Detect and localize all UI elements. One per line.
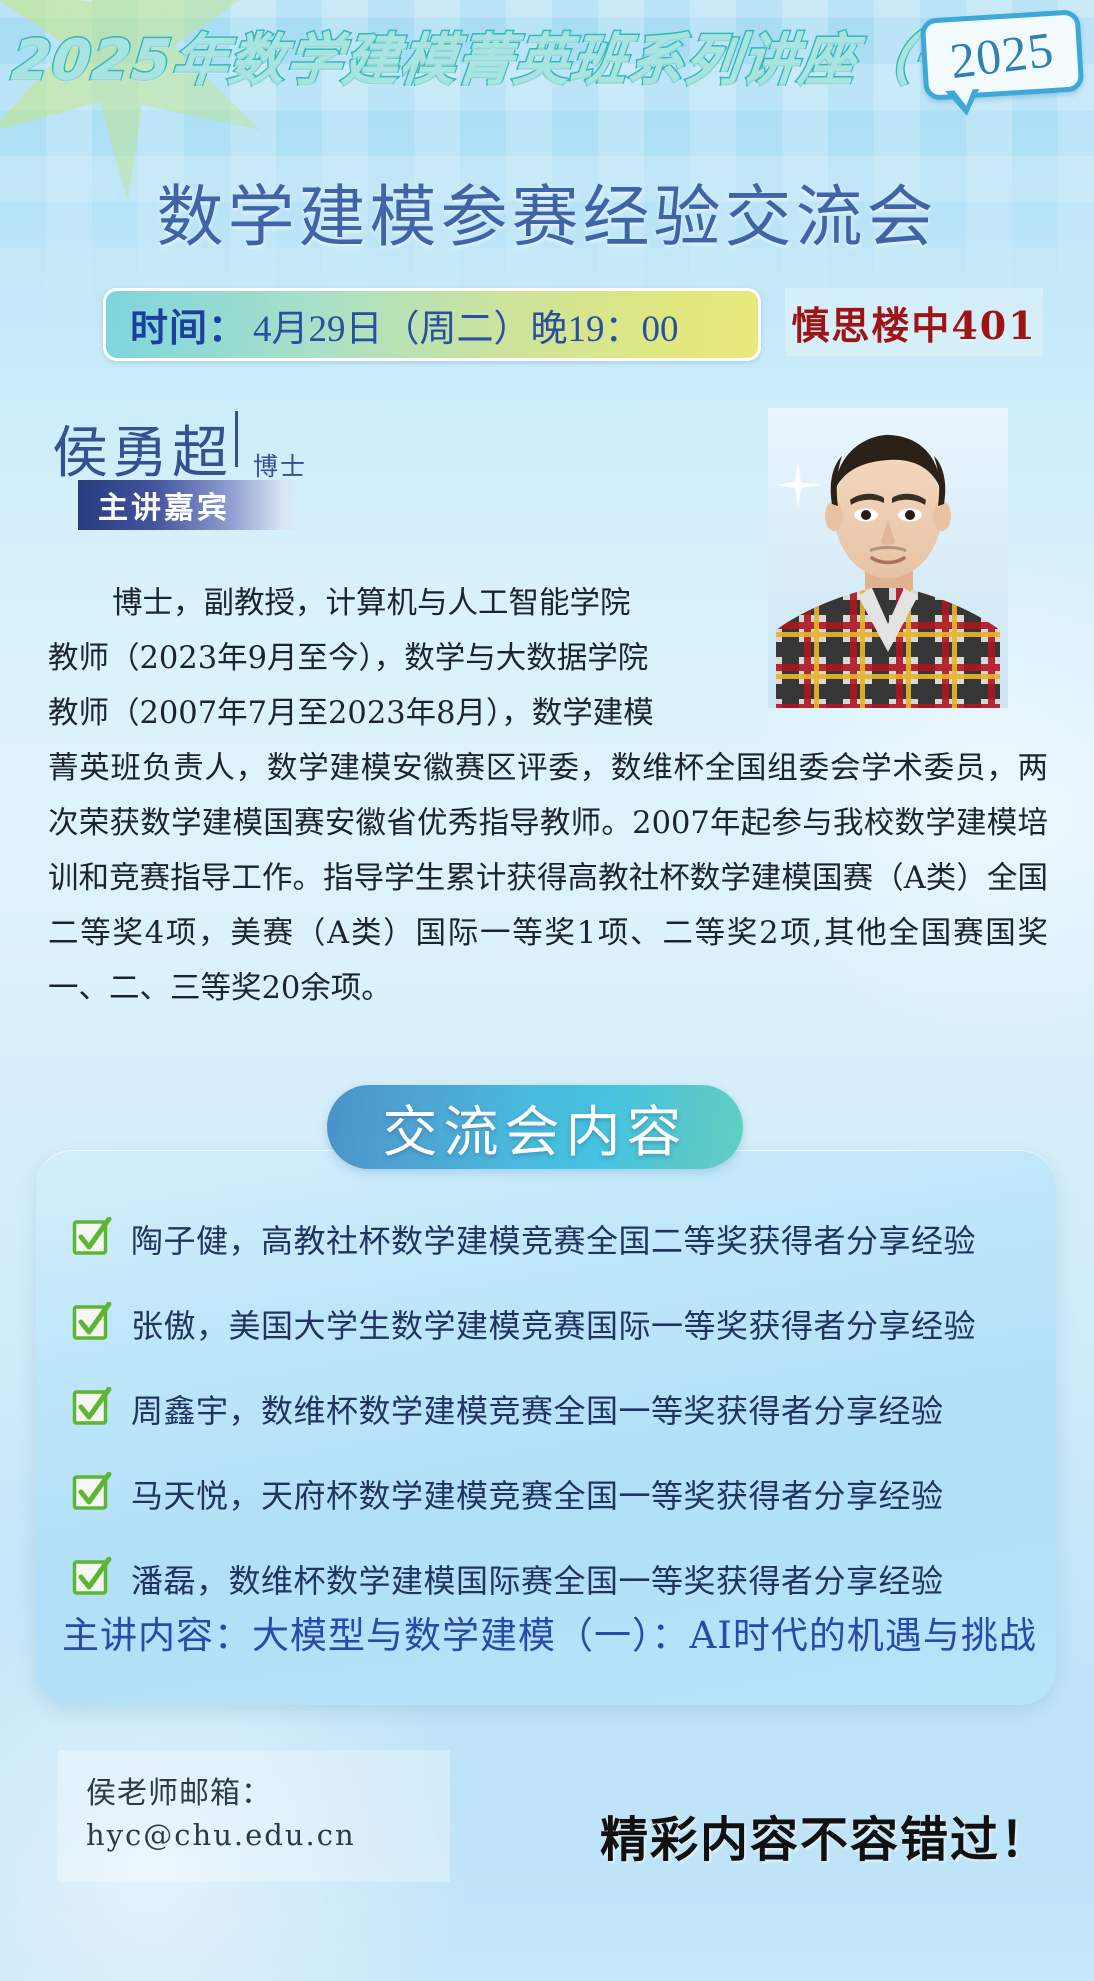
list-item-text: 潘磊，数维杯数学建模国际赛全国一等奖获得者分享经验 (131, 1556, 944, 1602)
speaker-name-divider (235, 411, 238, 467)
poster-root: 2025年数学建模菁英班系列讲座（一） 2025 数学建模参赛经验交流会 时间：… (0, 0, 1094, 1981)
speaker-degree: 博士 (253, 447, 307, 483)
event-time-value: 4月29日（周二）晚19：00 (253, 298, 679, 352)
series-title: 2025年数学建模菁英班系列讲座（一） (8, 26, 775, 96)
section-header-content: 交流会内容 (327, 1085, 743, 1169)
contact-email-address: hyc@chu.edu.cn (86, 1814, 450, 1856)
bio-line-1: 博士，副教授，计算机与人工智能学院 (112, 586, 631, 621)
speaker-biography: 博士，副教授，计算机与人工智能学院 教师（2023年9月至今），数学与大数据学院… (48, 576, 1048, 1016)
event-time-label: 时间： (130, 297, 247, 352)
event-time-bar: 时间： 4月29日（周二）晚19：00 (103, 288, 761, 361)
check-square-icon (72, 1217, 112, 1257)
check-square-icon (72, 1387, 112, 1427)
speaker-role-badge: 主讲嘉宾 (78, 480, 300, 530)
contact-email-box: 侯老师邮箱： hyc@chu.edu.cn (58, 1750, 450, 1882)
contact-email-label: 侯老师邮箱： (86, 1774, 450, 1814)
year-badge: 2025 (922, 14, 1082, 96)
bio-line-2: 教师（2023年9月至今），数学与大数据学院 (48, 641, 648, 676)
event-venue-box: 慎思楼中401 (785, 288, 1043, 356)
check-square-icon (72, 1557, 112, 1597)
list-item-text: 马天悦，天府杯数学建模竞赛全国一等奖获得者分享经验 (131, 1471, 944, 1517)
check-square-icon (72, 1472, 112, 1512)
lecture-topic: 主讲内容：大模型与数学建模（一）：AI时代的机遇与挑战 (62, 1605, 1037, 1659)
list-item-text: 张傲，美国大学生数学建模竞赛国际一等奖获得者分享经验 (131, 1301, 976, 1347)
closing-cta: 精彩内容不容错过！ (600, 1800, 1050, 1870)
list-item: 马天悦，天府杯数学建模竞赛全国一等奖获得者分享经验 (72, 1462, 1032, 1526)
bio-line-3: 教师（2007年7月至2023年8月），数学建模 (48, 696, 654, 731)
page-title: 数学建模参赛经验交流会 (0, 163, 1094, 260)
section-header-label: 交流会内容 (382, 1087, 687, 1167)
list-item: 陶子健，高教社杯数学建模竞赛全国二等奖获得者分享经验 (72, 1207, 1032, 1271)
list-item-text: 陶子健，高教社杯数学建模竞赛全国二等奖获得者分享经验 (131, 1216, 976, 1262)
event-venue-text: 慎思楼中401 (791, 295, 1036, 350)
speaker-name: 侯勇超 (52, 408, 232, 489)
list-item: 潘磊，数维杯数学建模国际赛全国一等奖获得者分享经验 (72, 1547, 1032, 1611)
content-item-list: 陶子健，高教社杯数学建模竞赛全国二等奖获得者分享经验 张傲，美国大学生数学建模竞… (72, 1207, 1032, 1632)
list-item: 张傲，美国大学生数学建模竞赛国际一等奖获得者分享经验 (72, 1292, 1032, 1356)
speaker-role-badge-label: 主讲嘉宾 (98, 483, 230, 527)
list-item: 周鑫宇，数维杯数学建模竞赛全国一等奖获得者分享经验 (72, 1377, 1032, 1441)
list-item-text: 周鑫宇，数维杯数学建模竞赛全国一等奖获得者分享经验 (131, 1386, 944, 1432)
check-square-icon (72, 1302, 112, 1342)
bio-line-rest: 菁英班负责人，数学建模安徽赛区评委，数维杯全国组委会学术委员，两次荣获数学建模国… (48, 751, 1048, 1006)
